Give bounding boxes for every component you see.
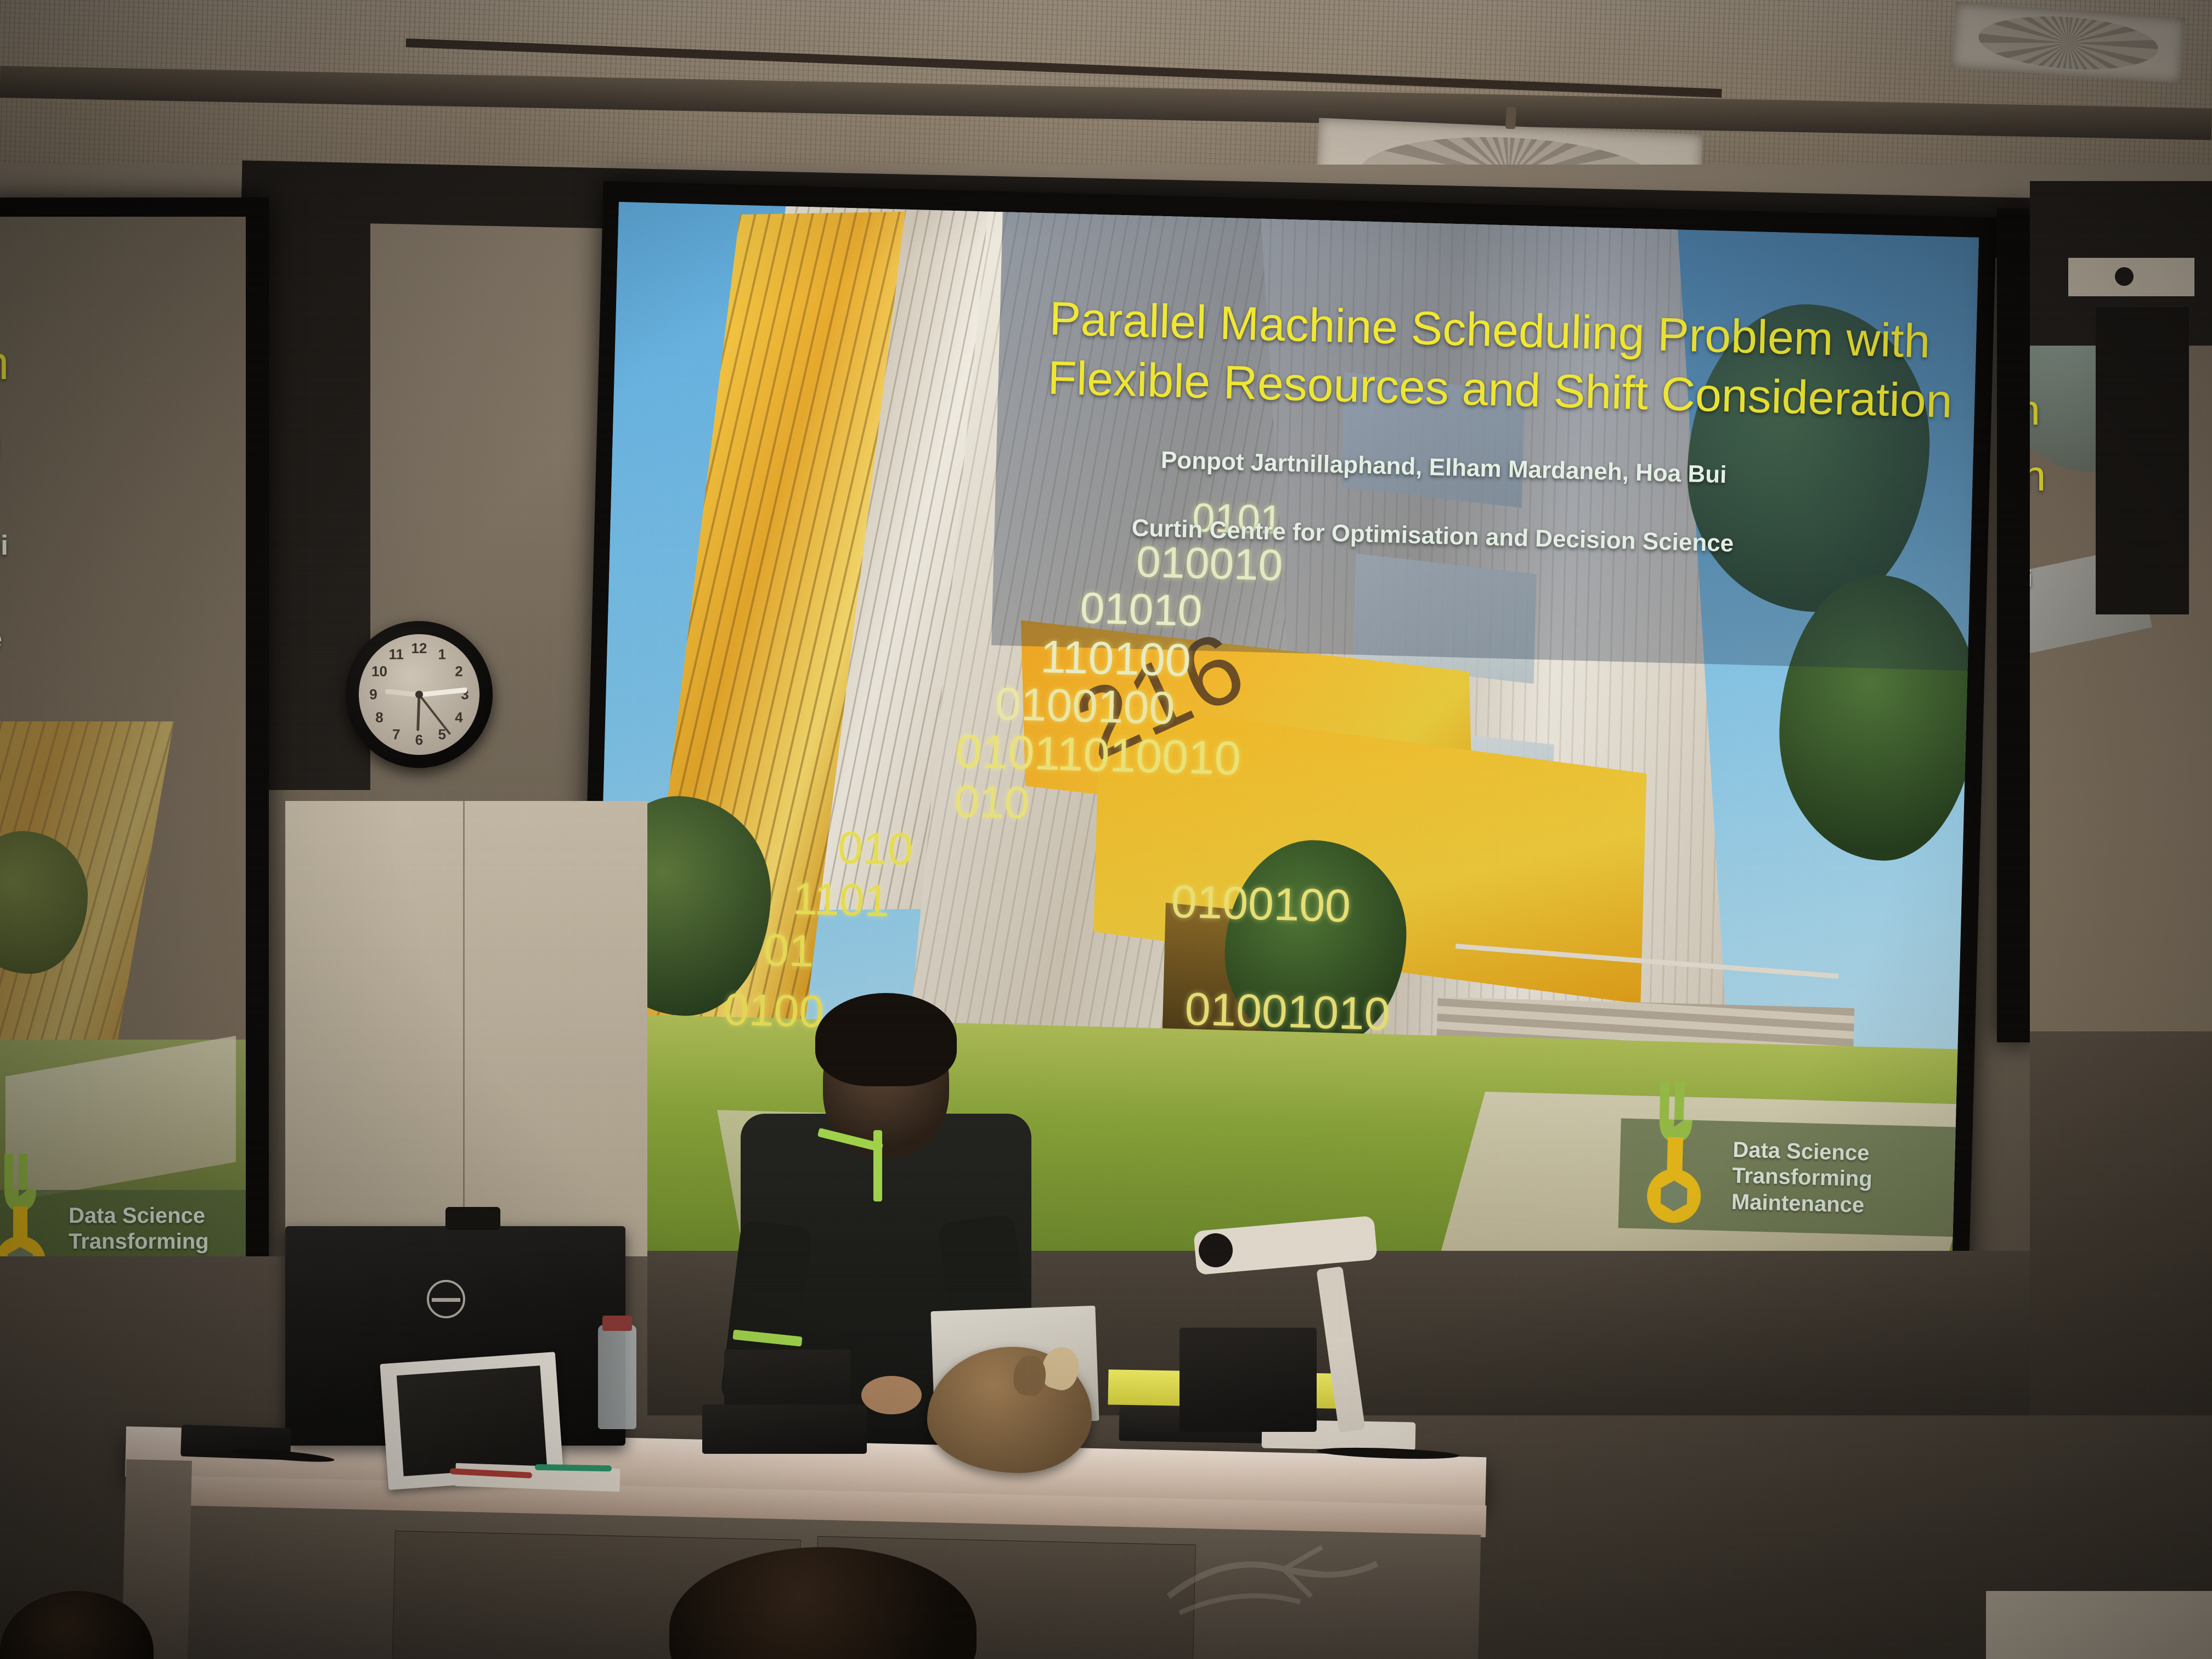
brand-line-3: Maintenance xyxy=(1731,1189,1872,1218)
air-diffuser-icon xyxy=(1977,11,2159,75)
left-slide-authors: eh, Hoa Bui xyxy=(0,529,246,561)
wall-dark-panel-right xyxy=(2096,307,2189,614)
brand-line-1: Data Science xyxy=(1733,1137,1874,1167)
wrench-icon xyxy=(1635,1080,1716,1228)
left-slide-title-line-2: eration xyxy=(0,414,246,472)
right-slide-title-line-1: with xyxy=(2030,384,2040,436)
clock-face: 12 1 2 3 4 5 6 7 8 9 10 11 xyxy=(359,634,479,755)
av-box-under-camera[interactable] xyxy=(1180,1328,1317,1432)
floor-surface-right xyxy=(1986,1591,2212,1659)
clock-numeral: 11 xyxy=(388,646,404,663)
binary-row: 010 xyxy=(953,776,1030,830)
clock-numeral: 10 xyxy=(371,663,387,680)
bottle-cap[interactable] xyxy=(602,1316,632,1331)
lecture-theatre-photo: em with eration eh, Hoa Bui on Science D… xyxy=(0,0,2212,1659)
binary-row: 010 xyxy=(837,822,913,876)
binary-row: 1101 xyxy=(792,873,890,928)
presenter-hair xyxy=(815,993,957,1086)
brand-line-2: Transforming xyxy=(1732,1163,1873,1193)
clock-numeral: 8 xyxy=(375,709,383,726)
dell-logo-icon xyxy=(427,1280,465,1318)
left-projection-screen: em with eration eh, Hoa Bui on Science D… xyxy=(0,217,246,1347)
right-slide-authors: oa Bui xyxy=(2030,565,2032,592)
picture-frame-image xyxy=(397,1365,548,1476)
webcam-icon[interactable] xyxy=(445,1207,500,1230)
camera-lens-icon xyxy=(1199,1233,1233,1267)
binary-row: 01001010 xyxy=(1184,983,1391,1041)
left-brand-line-2: Transforming xyxy=(69,1229,209,1255)
wall-cabinet[interactable] xyxy=(285,801,647,1256)
clock-hand-shadow xyxy=(416,695,420,731)
clock-hour-hand xyxy=(385,689,420,697)
brand-box: Data Science Transforming Maintenance xyxy=(1618,1118,1961,1237)
lower-wall-right xyxy=(2030,1031,2212,1415)
wall-clock: 12 1 2 3 4 5 6 7 8 9 10 11 xyxy=(346,621,493,768)
binary-row: 01 xyxy=(763,924,815,977)
clock-centre-pin xyxy=(415,691,423,698)
binary-row: 01010 xyxy=(1080,583,1203,636)
clock-second-hand xyxy=(418,694,451,735)
clock-minute-hand xyxy=(419,687,467,697)
clock-numeral: 12 xyxy=(411,640,427,657)
presenter-hand xyxy=(861,1376,922,1414)
sprinkler-icon xyxy=(1505,107,1516,129)
clock-numeral: 7 xyxy=(392,726,400,743)
av-rack-box-lower[interactable] xyxy=(702,1404,867,1454)
cabinet-door-seam xyxy=(463,801,465,1256)
clock-numeral: 9 xyxy=(369,686,377,703)
clock-numeral: 1 xyxy=(438,646,446,663)
binary-row: 0100100 xyxy=(1171,875,1351,933)
right-slide-title-line-2: ation xyxy=(2030,450,2046,502)
binary-row: 0100 xyxy=(723,984,825,1039)
clock-numeral: 4 xyxy=(455,709,462,726)
presenter-placket-trim xyxy=(873,1130,882,1201)
clock-numeral: 6 xyxy=(415,732,423,749)
water-bottle[interactable] xyxy=(598,1325,636,1429)
left-slide-title-line-1: em with xyxy=(0,335,246,392)
brand-text: Data Science Transforming Maintenance xyxy=(1731,1137,1873,1218)
wall-sensor-icon xyxy=(2115,267,2134,286)
curtin-emblem-icon xyxy=(1158,1531,1388,1629)
left-slide-affiliation: on Science xyxy=(0,623,246,654)
left-brand-line-1: Data Science xyxy=(69,1203,209,1229)
clock-numeral: 2 xyxy=(455,663,462,680)
